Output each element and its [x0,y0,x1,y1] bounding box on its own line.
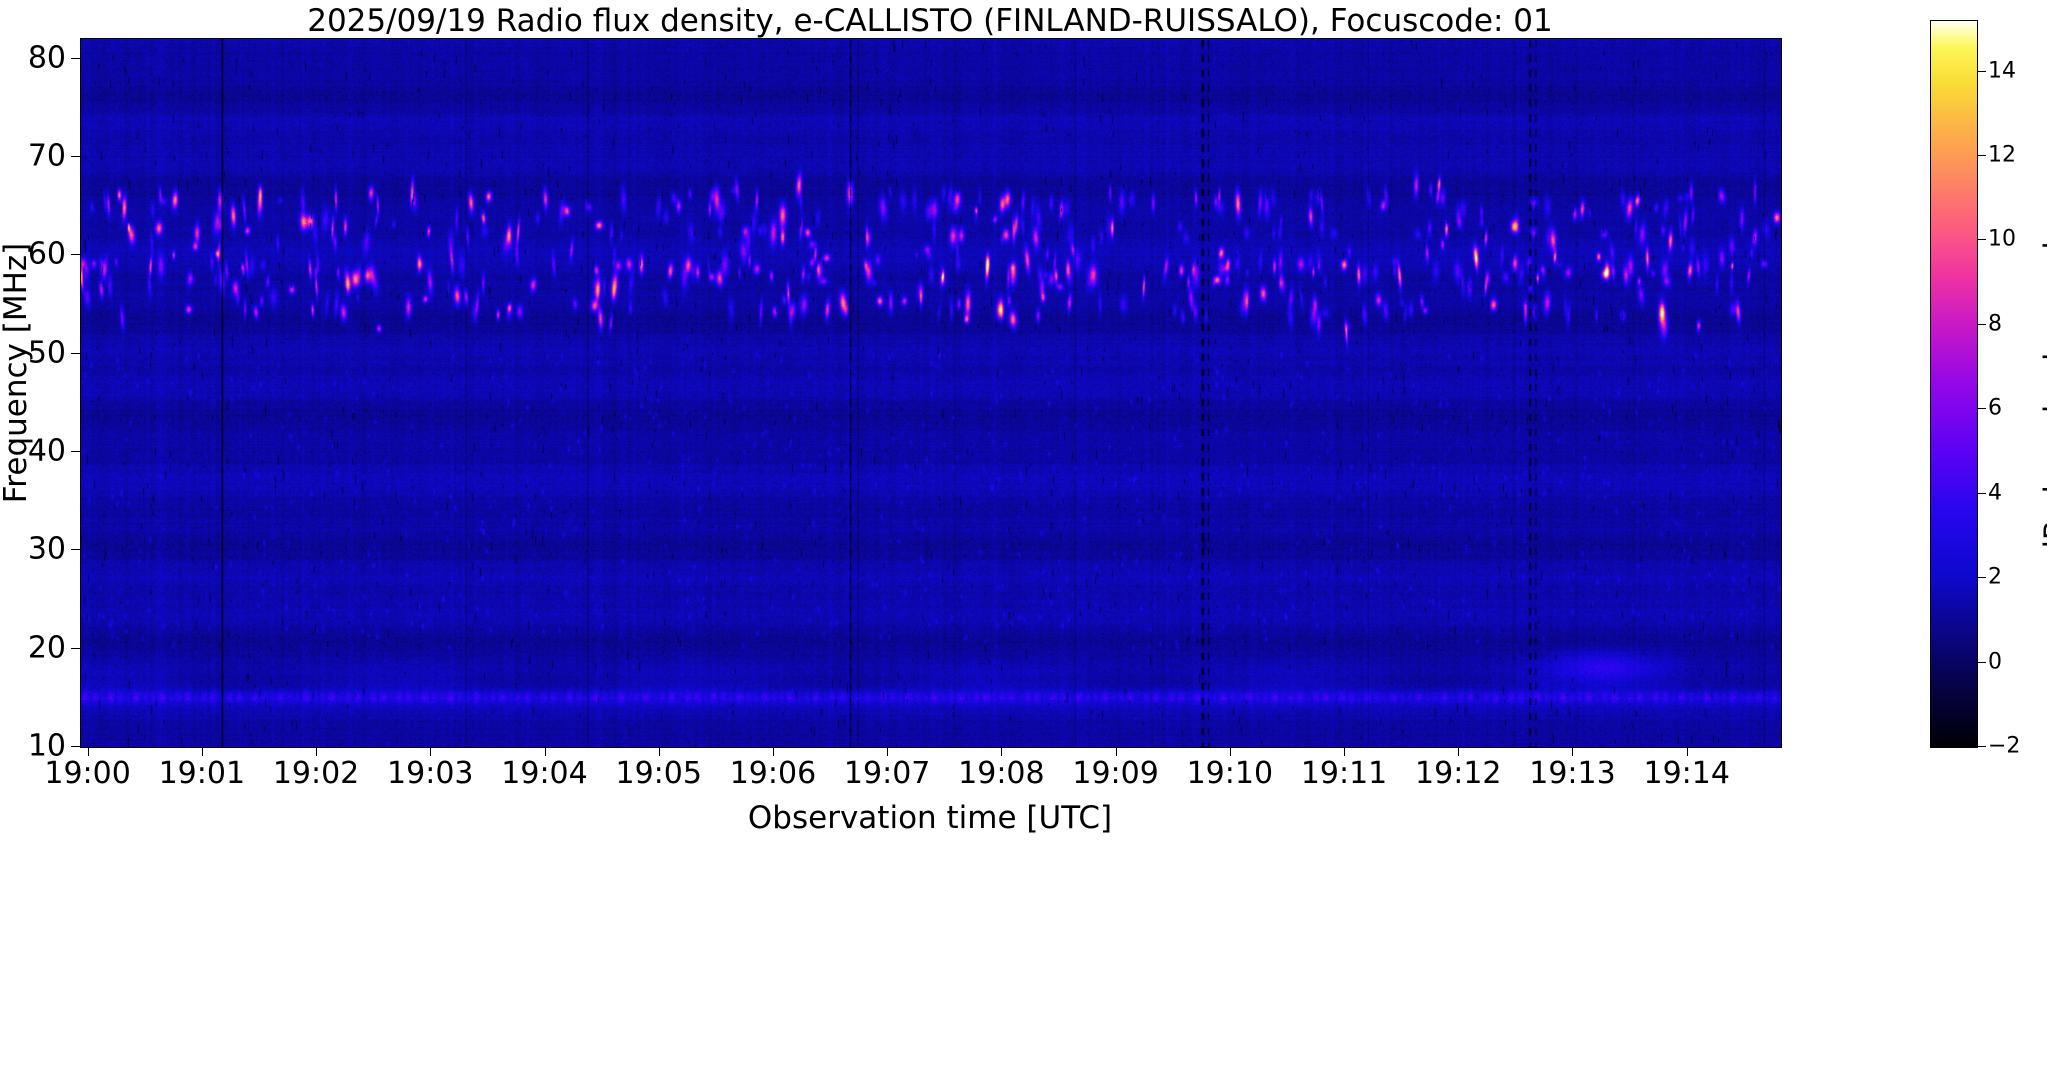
x-tick-mark [88,747,89,756]
x-tick-mark [430,747,431,756]
x-tick-label: 19:11 [1301,756,1387,791]
x-tick-label: 19:04 [501,756,587,791]
x-axis-ticks: 19:0019:0119:0219:0319:0419:0519:0619:07… [0,756,2047,802]
colorbar-tick-mark [1977,239,1986,240]
spectrogram-axes[interactable] [80,38,1782,748]
x-tick-label: 19:06 [730,756,816,791]
x-tick-mark [659,747,660,756]
x-tick-mark [1001,747,1002,756]
x-tick-mark [1687,747,1688,756]
colorbar-tick-mark [1977,577,1986,578]
spectrogram-image [81,39,1781,747]
colorbar-tick-label: 4 [1988,480,2002,505]
colorbar-tick-mark [1977,662,1986,663]
colorbar-tick-label: 14 [1988,58,2016,83]
colorbar-tick-mark [1977,493,1986,494]
x-tick-label: 19:12 [1415,756,1501,791]
colorbar-tick-mark [1977,746,1986,747]
x-tick-label: 19:05 [615,756,701,791]
colorbar-tick-label: 8 [1988,311,2002,336]
y-tick-mark [71,58,80,59]
x-tick-mark [545,747,546,756]
x-tick-label: 19:13 [1529,756,1615,791]
y-axis-label: Frequency [MHz] [0,19,34,727]
x-tick-label: 19:01 [159,756,245,791]
page-title: 2025/09/19 Radio flux density, e-CALLIST… [80,4,1780,38]
x-tick-label: 19:07 [844,756,930,791]
colorbar-gradient [1931,21,1977,747]
x-tick-label: 19:00 [44,756,130,791]
y-tick-mark [71,648,80,649]
y-tick-mark [71,156,80,157]
colorbar-tick-label: −2 [1988,734,2020,759]
x-tick-label: 19:08 [958,756,1044,791]
colorbar-tick-label: 12 [1988,143,2016,168]
y-tick-mark [71,549,80,550]
colorbar-tick-mark [1977,408,1986,409]
colorbar-label: dB above background [2038,37,2047,763]
x-tick-mark [887,747,888,756]
x-tick-label: 19:14 [1643,756,1729,791]
y-tick-mark [71,746,80,747]
x-tick-mark [1230,747,1231,756]
y-tick-mark [71,254,80,255]
x-tick-mark [1572,747,1573,756]
x-tick-mark [1116,747,1117,756]
y-tick-mark [71,451,80,452]
x-tick-mark [773,747,774,756]
x-tick-label: 19:02 [273,756,359,791]
colorbar-axes[interactable] [1930,20,1978,748]
colorbar-tick-label: 2 [1988,565,2002,590]
x-tick-mark [316,747,317,756]
x-tick-label: 19:10 [1187,756,1273,791]
colorbar-tick-label: 10 [1988,227,2016,252]
x-tick-mark [1458,747,1459,756]
figure-canvas: 2025/09/19 Radio flux density, e-CALLIST… [0,0,2047,1067]
x-tick-mark [202,747,203,756]
x-axis-label: Observation time [UTC] [80,800,1780,836]
x-tick-label: 19:09 [1072,756,1158,791]
colorbar-tick-mark [1977,155,1986,156]
x-tick-label: 19:03 [387,756,473,791]
colorbar-tick-mark [1977,71,1986,72]
colorbar-tick-mark [1977,324,1986,325]
x-tick-mark [1344,747,1345,756]
y-tick-mark [71,353,80,354]
colorbar-tick-label: 6 [1988,396,2002,421]
colorbar-tick-label: 0 [1988,649,2002,674]
